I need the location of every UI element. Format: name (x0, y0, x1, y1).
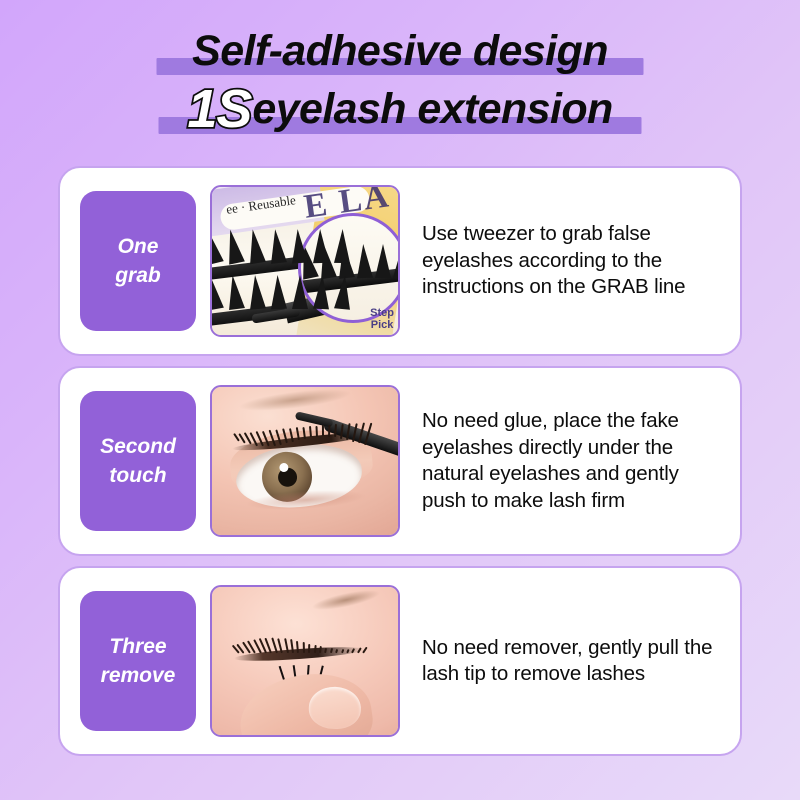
lash-clump (312, 229, 329, 263)
step-badge-one: One grab (80, 191, 196, 331)
step-photo-open-eye (210, 385, 400, 537)
title-text-line1: Self-adhesive design (192, 27, 608, 75)
lash-clump (334, 229, 351, 263)
badge-line1: Three (109, 632, 166, 661)
lash-clump (313, 275, 330, 310)
lash-clump (290, 229, 308, 264)
title-line-2: 1Seyelash extension (0, 80, 800, 138)
step-card-three-remove: Three remove No need remover, gently pul… (58, 566, 742, 756)
badge-line1: One (118, 232, 159, 261)
eyelash (322, 425, 324, 436)
title-line-1: Self-adhesive design (0, 22, 800, 80)
title-text-line2: eyelash extension (252, 85, 612, 133)
title-line2-group: 1Seyelash extension (187, 80, 612, 148)
eyelash (328, 424, 330, 436)
lash-clump (334, 274, 353, 309)
badge-line2: grab (115, 261, 161, 290)
lash-clump (355, 244, 373, 279)
infographic-page: Self-adhesive design 1Seyelash extension… (0, 0, 800, 800)
badge-line2: touch (109, 461, 166, 490)
step-description-three: No need remover, gently pull the lash ti… (422, 635, 728, 688)
step-description-one: Use tweezer to grab false eyelashes acco… (422, 221, 728, 301)
eyelash (314, 645, 317, 653)
step-badge-second: Second touch (80, 391, 196, 531)
step-photo-lash-tray: ee · Reusable E LA Step Pick (210, 185, 400, 337)
step-card-one-grab: One grab ee · Reusable E LA Step Pick Us… (58, 166, 742, 356)
lash-clump (393, 244, 400, 279)
lash-clump (292, 275, 308, 309)
step-photo-closed-eye (210, 585, 400, 737)
package-step-text: Step Pick (370, 307, 394, 331)
eyelash (302, 642, 304, 653)
lash-clump (375, 244, 391, 278)
step-card-second-touch: Second touch No need glue, place the fak… (58, 366, 742, 556)
lash-clump (270, 275, 287, 310)
lash-clump (247, 274, 266, 309)
step-description-second: No need glue, place the fake eyelashes d… (422, 408, 728, 514)
header: Self-adhesive design 1Seyelash extension (0, 22, 800, 152)
fingernail (308, 686, 361, 730)
logo-1s: 1S (187, 79, 251, 139)
step-badge-three: Three remove (80, 591, 196, 731)
badge-line1: Second (100, 432, 176, 461)
badge-line2: remove (101, 661, 176, 690)
